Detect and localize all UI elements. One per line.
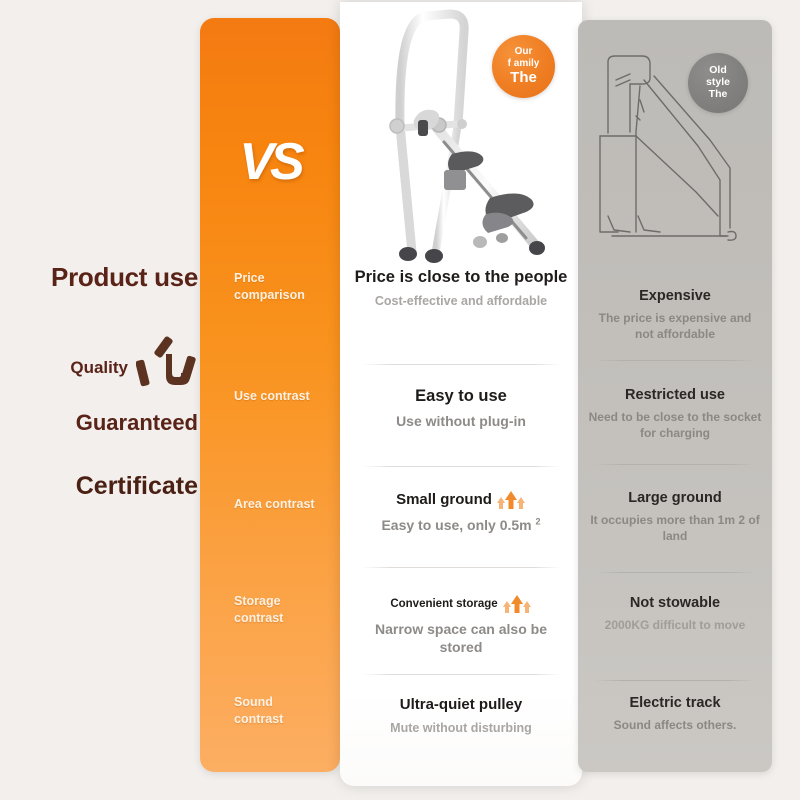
our-divider-1 xyxy=(362,364,562,365)
our-row-area-subtitle: Easy to use, only 0.5m xyxy=(381,517,531,533)
old-product-column: Old style The Expensive The price is exp… xyxy=(578,20,772,772)
our-row-use-subtitle: Use without plug-in xyxy=(354,412,568,430)
old-row-price: Expensive The price is expensive and not… xyxy=(584,288,766,343)
infographic-root: Product use Quality Guaranteed Certifica… xyxy=(0,0,800,800)
old-row-use-subtitle: Need to be close to the socket for charg… xyxy=(588,410,762,442)
our-row-use-title: Easy to use xyxy=(354,386,568,406)
old-row-area: Large ground It occupies more than 1m 2 … xyxy=(584,490,766,545)
old-row-use: Restricted use Need to be close to the s… xyxy=(584,387,766,442)
old-product-image xyxy=(578,20,772,278)
up-arrows-icon xyxy=(502,594,532,614)
old-badge-line3: The xyxy=(709,89,728,101)
our-row-area-subtitle-wrap: Easy to use, only 0.5m 2 xyxy=(354,516,568,534)
old-row-price-subtitle: The price is expensive and not affordabl… xyxy=(588,311,762,343)
our-row-storage-subtitle: Narrow space can also be stored xyxy=(354,620,568,656)
our-product-column: Our f amily The Price is close to the pe… xyxy=(340,2,582,786)
old-row-storage-title: Not stowable xyxy=(588,595,762,612)
our-row-sound-title: Ultra-quiet pulley xyxy=(354,696,568,714)
our-row-price-subtitle: Cost-effective and affordable xyxy=(354,293,568,309)
left-heading-product-use: Product use xyxy=(28,262,198,293)
old-row-sound-title: Electric track xyxy=(588,695,762,712)
vs-label: VS xyxy=(200,136,340,188)
vs-row-label-price: Pricecomparison xyxy=(200,270,340,304)
left-marketing-column: Product use Quality Guaranteed Certifica… xyxy=(0,250,205,520)
old-divider-3 xyxy=(594,572,756,573)
old-row-price-title: Expensive xyxy=(588,288,762,305)
left-heading-quality-row: Quality xyxy=(22,338,198,398)
vs-row-label-storage: Storagecontrast xyxy=(200,593,340,627)
up-arrows-icon xyxy=(496,490,526,510)
our-row-storage: Convenient storage Narrow space can also… xyxy=(348,594,574,656)
our-divider-4 xyxy=(362,674,562,675)
our-row-price: Price is close to the people Cost-effect… xyxy=(348,267,574,309)
left-heading-certificate: Certificate xyxy=(8,472,198,501)
vs-row-label-area: Area contrast xyxy=(200,496,340,513)
our-row-area-title: Small ground xyxy=(396,491,492,509)
our-product-image xyxy=(340,2,582,264)
our-row-storage-title-wrap: Convenient storage xyxy=(354,594,568,614)
old-divider-1 xyxy=(594,360,756,361)
old-row-sound-subtitle: Sound affects others. xyxy=(588,718,762,734)
left-heading-guaranteed: Guaranteed xyxy=(10,410,198,436)
our-divider-3 xyxy=(362,567,562,568)
our-badge-line1: Our xyxy=(515,46,533,57)
vs-row-label-use: Use contrast xyxy=(200,388,340,405)
old-divider-4 xyxy=(594,680,756,681)
old-row-area-title: Large ground xyxy=(588,490,762,507)
old-divider-2 xyxy=(594,464,756,465)
old-row-area-subtitle: It occupies more than 1m 2 of land xyxy=(588,513,762,545)
our-row-sound-subtitle: Mute without disturbing xyxy=(354,720,568,736)
our-badge-line2: f amily xyxy=(508,58,540,69)
heart-character-icon xyxy=(136,336,198,396)
old-row-sound: Electric track Sound affects others. xyxy=(584,695,766,734)
our-row-price-title: Price is close to the people xyxy=(354,267,568,287)
our-badge-line3: The xyxy=(510,70,537,87)
our-divider-2 xyxy=(362,466,562,467)
old-row-storage: Not stowable 2000KG difficult to move xyxy=(584,595,766,634)
vs-orange-panel: VS Pricecomparison Use contrast Area con… xyxy=(200,18,340,772)
old-style-badge: Old style The xyxy=(688,53,748,113)
old-row-storage-subtitle: 2000KG difficult to move xyxy=(588,618,762,634)
our-row-area: Small ground Easy to use, only 0.5m 2 xyxy=(348,490,574,534)
our-row-use: Easy to use Use without plug-in xyxy=(348,386,574,430)
our-row-storage-title: Convenient storage xyxy=(390,597,497,611)
our-row-area-title-wrap: Small ground xyxy=(354,490,568,510)
vs-row-label-sound: Soundcontrast xyxy=(200,694,340,728)
our-row-sound: Ultra-quiet pulley Mute without disturbi… xyxy=(348,696,574,737)
our-row-area-subtitle-sup: 2 xyxy=(536,516,541,526)
our-family-badge: Our f amily The xyxy=(492,35,555,98)
left-heading-quality: Quality xyxy=(70,358,128,378)
old-row-use-title: Restricted use xyxy=(588,387,762,404)
